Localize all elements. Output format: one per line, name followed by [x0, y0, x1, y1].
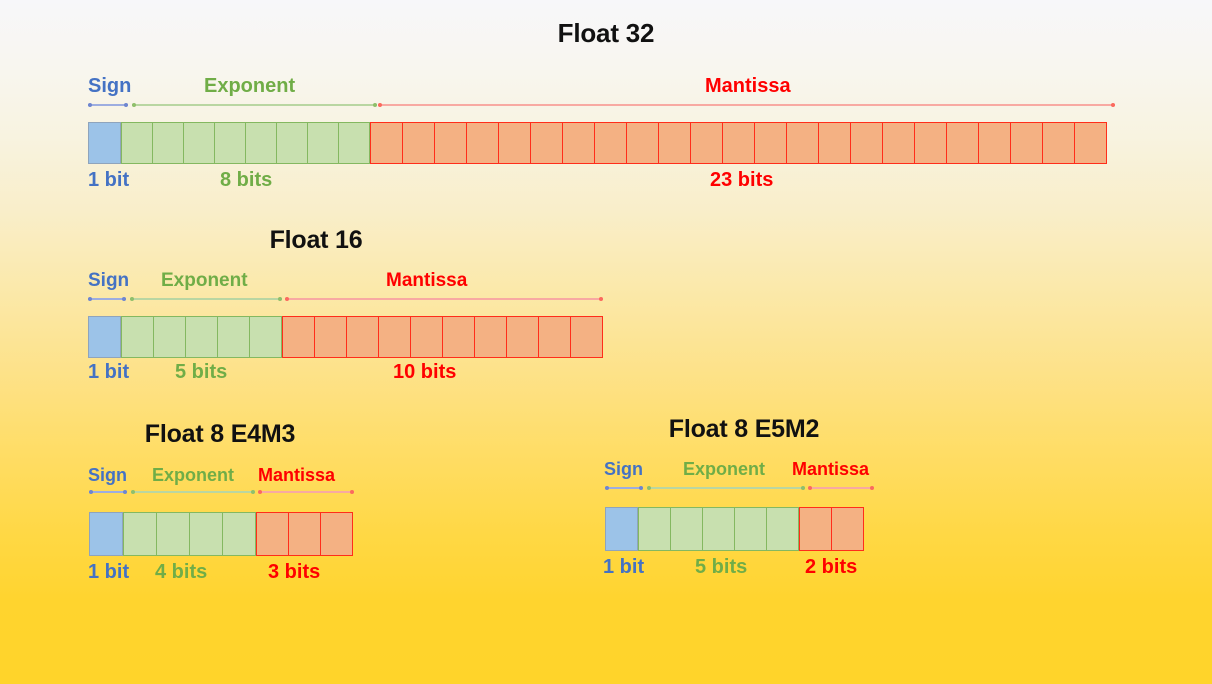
field-label-exponent-float8-e4m3: Exponent [152, 466, 234, 484]
bit-cell-exponent [185, 316, 218, 358]
bits-label-sign-float32: 1 bit [88, 170, 129, 190]
field-label-exponent-float8-e5m2: Exponent [683, 460, 765, 478]
bit-cell-mantissa [799, 507, 832, 551]
bits-label-mantissa-float8-e5m2: 2 bits [805, 557, 857, 577]
bit-cell-mantissa [690, 122, 723, 164]
field-label-sign-float8-e4m3: Sign [88, 466, 127, 484]
bits-label-exponent-float16: 5 bits [175, 362, 227, 382]
bits-label-mantissa-float8-e4m3: 3 bits [268, 562, 320, 582]
bit-cell-mantissa [378, 316, 411, 358]
bit-cell-mantissa [288, 512, 321, 556]
bit-cell-mantissa [818, 122, 851, 164]
bit-cell-mantissa [786, 122, 819, 164]
field-rule-exponent-float8-e4m3 [131, 491, 255, 493]
bits-label-exponent-float8-e5m2: 5 bits [695, 557, 747, 577]
bits-label-exponent-float8-e4m3: 4 bits [155, 562, 207, 582]
bit-cell-mantissa [370, 122, 403, 164]
field-rule-mantissa-float8-e5m2 [808, 487, 874, 489]
bit-cell-mantissa [882, 122, 915, 164]
bit-bar-float8-e4m3 [89, 512, 353, 556]
field-rule-mantissa-float32 [378, 104, 1115, 106]
field-label-sign-float32: Sign [88, 76, 131, 96]
format-title-float32: Float 32 [0, 18, 1212, 49]
format-block-float32: Float 32 Sign Exponent Mantissa [0, 18, 1212, 203]
bit-cell-mantissa [594, 122, 627, 164]
bit-cell-exponent [670, 507, 703, 551]
bit-cell-mantissa [442, 316, 475, 358]
bit-cell-mantissa [466, 122, 499, 164]
field-rule-exponent-float8-e5m2 [647, 487, 805, 489]
field-rule-sign-float32 [88, 104, 128, 106]
bit-cell-mantissa [978, 122, 1011, 164]
bits-label-mantissa-float32: 23 bits [710, 170, 773, 190]
bits-label-sign-float8-e4m3: 1 bit [88, 562, 129, 582]
bit-cell-exponent [153, 316, 186, 358]
field-rule-sign-float8-e4m3 [89, 491, 127, 493]
format-block-float16: Float 16 Sign Exponent Mantissa 1 bit [0, 226, 700, 396]
field-label-sign-float16: Sign [88, 271, 129, 290]
bit-cell-mantissa [282, 316, 315, 358]
bit-cell-exponent [245, 122, 277, 164]
bit-cell-mantissa [434, 122, 467, 164]
field-label-exponent-float16: Exponent [161, 271, 248, 290]
bit-cell-mantissa [658, 122, 691, 164]
field-label-exponent-float32: Exponent [204, 76, 295, 96]
field-rule-sign-float16 [88, 298, 126, 300]
field-label-mantissa-float8-e4m3: Mantissa [258, 466, 335, 484]
bit-cell-exponent [307, 122, 339, 164]
bit-cell-mantissa [410, 316, 443, 358]
bit-cell-exponent [702, 507, 735, 551]
bit-cell-mantissa [722, 122, 755, 164]
bits-label-mantissa-float16: 10 bits [393, 362, 456, 382]
bit-cell-exponent [766, 507, 799, 551]
bit-cell-exponent [156, 512, 190, 556]
format-title-float16: Float 16 [0, 226, 632, 255]
bit-cell-mantissa [626, 122, 659, 164]
bit-cell-exponent [638, 507, 671, 551]
bit-cell-exponent [183, 122, 215, 164]
bits-label-exponent-float32: 8 bits [220, 170, 272, 190]
bit-bar-float32 [88, 122, 1107, 164]
bit-bar-float16 [88, 316, 603, 358]
bit-cell-exponent [121, 122, 153, 164]
bits-label-sign-float16: 1 bit [88, 362, 129, 382]
bit-cell-exponent [276, 122, 308, 164]
bit-cell-sign [605, 507, 638, 551]
bit-cell-mantissa [506, 316, 539, 358]
bit-cell-mantissa [402, 122, 435, 164]
bit-cell-mantissa [946, 122, 979, 164]
bit-cell-mantissa [530, 122, 563, 164]
bit-cell-mantissa [1074, 122, 1107, 164]
bit-cell-mantissa [256, 512, 289, 556]
bit-cell-mantissa [562, 122, 595, 164]
bits-label-sign-float8-e5m2: 1 bit [603, 557, 644, 577]
field-label-mantissa-float8-e5m2: Mantissa [792, 460, 869, 478]
field-label-mantissa-float16: Mantissa [386, 271, 467, 290]
bit-cell-mantissa [320, 512, 353, 556]
bit-cell-exponent [189, 512, 223, 556]
field-rule-mantissa-float16 [285, 298, 603, 300]
bit-cell-sign [89, 512, 123, 556]
bit-cell-mantissa [1042, 122, 1075, 164]
bit-cell-sign [88, 122, 121, 164]
bit-cell-mantissa [314, 316, 347, 358]
field-label-mantissa-float32: Mantissa [705, 76, 791, 96]
format-block-float8-e5m2: Float 8 E5M2 Sign Exponent Mantissa 1 bi… [520, 415, 940, 580]
bit-cell-exponent [338, 122, 370, 164]
bit-cell-exponent [123, 512, 157, 556]
bit-cell-mantissa [1010, 122, 1043, 164]
bit-cell-mantissa [538, 316, 571, 358]
bit-cell-exponent [222, 512, 256, 556]
bit-cell-mantissa [850, 122, 883, 164]
bit-cell-sign [88, 316, 121, 358]
field-rule-sign-float8-e5m2 [605, 487, 643, 489]
bit-cell-mantissa [754, 122, 787, 164]
field-rule-mantissa-float8-e4m3 [258, 491, 354, 493]
field-label-sign-float8-e5m2: Sign [604, 460, 643, 478]
field-rule-exponent-float32 [132, 104, 377, 106]
bit-cell-exponent [121, 316, 154, 358]
bit-cell-exponent [249, 316, 282, 358]
bit-cell-mantissa [570, 316, 603, 358]
format-title-float8-e4m3: Float 8 E4M3 [0, 420, 440, 449]
bit-cell-mantissa [914, 122, 947, 164]
format-title-float8-e5m2: Float 8 E5M2 [520, 415, 968, 444]
bit-bar-float8-e5m2 [605, 507, 864, 551]
bit-cell-mantissa [346, 316, 379, 358]
bit-cell-exponent [217, 316, 250, 358]
slide-canvas: Float 32 Sign Exponent Mantissa [0, 0, 1212, 684]
bit-cell-mantissa [498, 122, 531, 164]
bit-cell-mantissa [474, 316, 507, 358]
bit-cell-exponent [152, 122, 184, 164]
format-block-float8-e4m3: Float 8 E4M3 Sign Exponent Mantissa 1 bi… [0, 420, 420, 585]
field-rule-exponent-float16 [130, 298, 282, 300]
bit-cell-mantissa [831, 507, 864, 551]
bit-cell-exponent [214, 122, 246, 164]
bit-cell-exponent [734, 507, 767, 551]
